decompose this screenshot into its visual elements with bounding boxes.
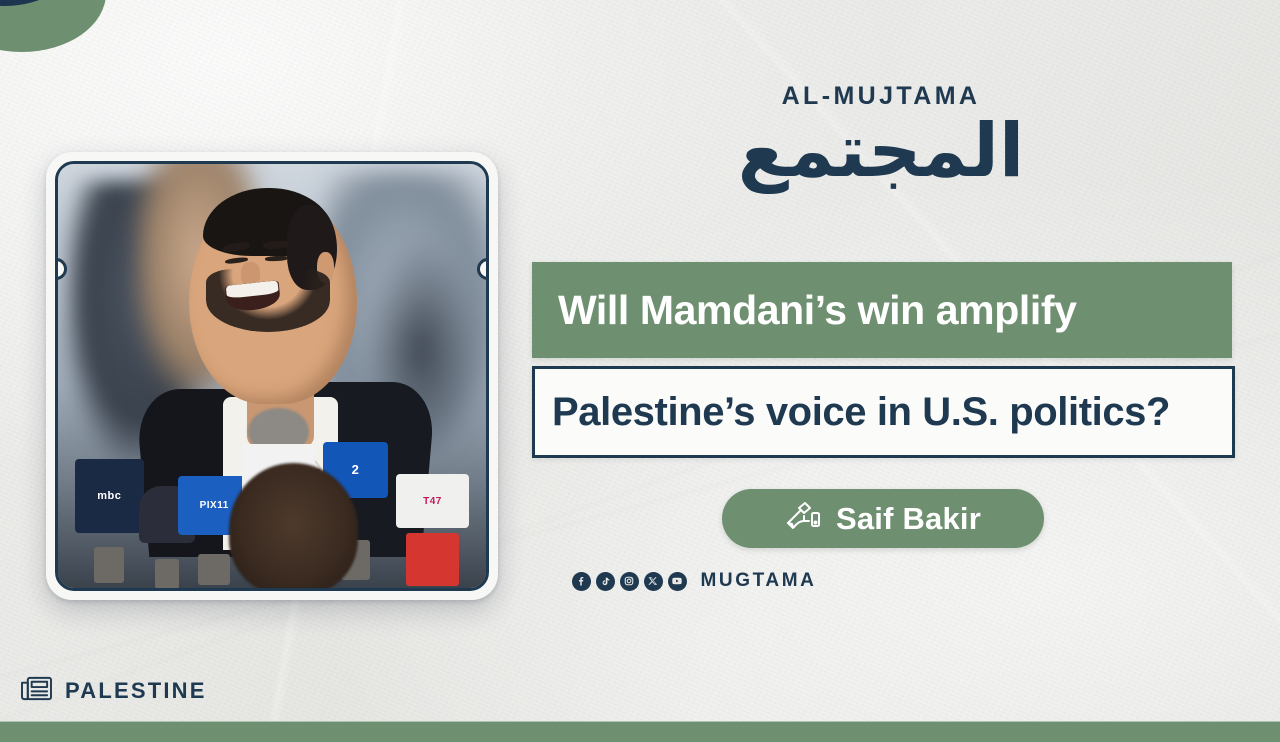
headline-bar-primary: Will Mamdani’s win amplify xyxy=(532,262,1232,358)
microphone-mbc: mbc xyxy=(75,459,143,578)
corner-circle-outer-green xyxy=(0,0,106,52)
mic-flag-label: T47 xyxy=(396,474,469,528)
photo-frame: mbc PIX11 4 2 xyxy=(55,161,489,591)
tiktok-icon[interactable] xyxy=(596,572,615,591)
newspaper-icon xyxy=(20,674,53,708)
instagram-icon[interactable] xyxy=(620,572,639,591)
social-links-row: MUGTAMA xyxy=(0,570,1280,592)
headline-bar-secondary: Palestine’s voice in U.S. politics? xyxy=(532,366,1235,458)
photo-image: mbc PIX11 4 2 xyxy=(58,164,486,588)
author-name: Saif Bakir xyxy=(836,501,981,537)
frame-notch-mask-left xyxy=(55,255,58,283)
brand-name-latin: AL-MUJTAMA xyxy=(716,82,1046,111)
footer-category-label: PALESTINE xyxy=(65,678,207,704)
youtube-icon[interactable] xyxy=(668,572,687,591)
x-twitter-icon[interactable] xyxy=(644,572,663,591)
headline-line-1: Will Mamdani’s win amplify xyxy=(558,287,1077,334)
corner-circle-decoration xyxy=(0,0,108,54)
brand-logo: AL-MUJTAMA المجتمع xyxy=(716,82,1046,191)
author-badge: Saif Bakir xyxy=(722,489,1044,548)
subject-eye-right xyxy=(265,255,289,261)
writing-hand-icon xyxy=(785,501,823,536)
subject-head xyxy=(189,192,357,403)
brand-name-arabic: المجتمع xyxy=(716,113,1046,191)
footer-category-tag: PALESTINE xyxy=(20,674,207,708)
social-handle-label: MUGTAMA xyxy=(701,570,817,592)
mic-flag-label: mbc xyxy=(75,459,143,533)
bottom-accent-bar xyxy=(0,721,1280,742)
headline-line-2: Palestine’s voice in U.S. politics? xyxy=(552,390,1170,435)
frame-notch-mask-right xyxy=(486,255,489,283)
photo-card: mbc PIX11 4 2 xyxy=(46,152,498,600)
press-microphones: mbc PIX11 4 2 xyxy=(58,418,486,588)
facebook-icon[interactable] xyxy=(572,572,591,591)
